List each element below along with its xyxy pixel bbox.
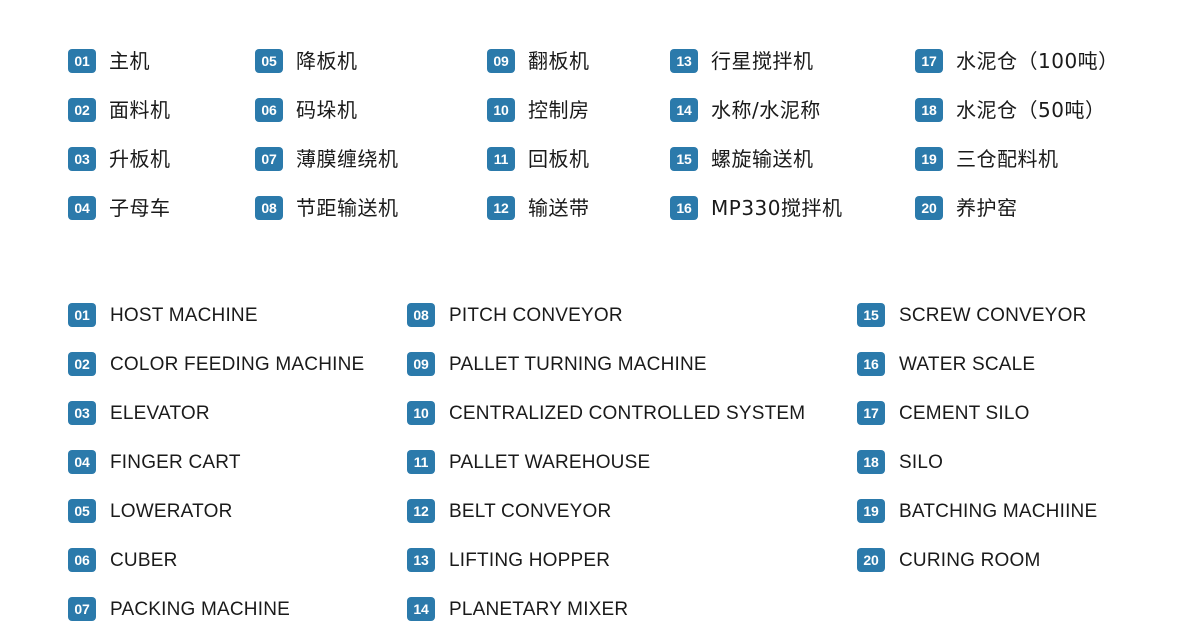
legend-number-badge: 02 [68,352,96,376]
legend-item-15: 15SCREW CONVEYOR [857,303,1087,327]
legend-number-badge: 11 [407,450,435,474]
legend-item-01: 01HOST MACHINE [68,303,258,327]
legend-item-label: 输送带 [528,198,590,218]
legend-number-badge: 07 [255,147,283,171]
legend-item-label: CENTRALIZED CONTROLLED SYSTEM [449,404,805,423]
legend-item-14: 14水称/水泥称 [670,98,821,122]
legend-item-label: 水称/水泥称 [711,100,821,120]
legend-number-badge: 06 [68,548,96,572]
legend-number-badge: 05 [68,499,96,523]
legend-number-badge: 04 [68,450,96,474]
legend-item-label: COLOR FEEDING MACHINE [110,355,364,374]
legend-number-badge: 09 [487,49,515,73]
legend-item-label: BATCHING MACHIINE [899,502,1097,521]
legend-number-badge: 17 [915,49,943,73]
legend-number-badge: 14 [670,98,698,122]
legend-item-18: 18水泥仓（50吨） [915,98,1105,122]
legend-number-badge: 19 [857,499,885,523]
legend-item-06: 06CUBER [68,548,178,572]
legend-item-13: 13行星搅拌机 [670,49,814,73]
legend-number-badge: 16 [857,352,885,376]
legend-number-badge: 03 [68,401,96,425]
legend-number-badge: 18 [915,98,943,122]
legend-item-label: 升板机 [109,149,171,169]
legend-item-label: PLANETARY MIXER [449,600,628,619]
legend-item-16: 16WATER SCALE [857,352,1035,376]
legend-number-badge: 07 [68,597,96,621]
legend-number-badge: 19 [915,147,943,171]
legend-item-03: 03ELEVATOR [68,401,210,425]
legend-number-badge: 10 [407,401,435,425]
legend-number-badge: 20 [857,548,885,572]
legend-item-19: 19三仓配料机 [915,147,1059,171]
legend-item-label: 码垛机 [296,100,358,120]
legend-item-label: 水泥仓（50吨） [956,100,1105,120]
legend-item-02: 02COLOR FEEDING MACHINE [68,352,364,376]
legend-item-18: 18SILO [857,450,943,474]
legend-number-badge: 14 [407,597,435,621]
legend-item-13: 13LIFTING HOPPER [407,548,610,572]
legend-item-19: 19BATCHING MACHIINE [857,499,1097,523]
legend-item-08: 08节距输送机 [255,196,399,220]
legend-item-17: 17水泥仓（100吨） [915,49,1119,73]
legend-number-badge: 12 [407,499,435,523]
legend-number-badge: 18 [857,450,885,474]
legend-number-badge: 12 [487,196,515,220]
legend-item-11: 11PALLET WAREHOUSE [407,450,650,474]
legend-item-label: WATER SCALE [899,355,1035,374]
legend-item-label: 节距输送机 [296,198,399,218]
legend-item-label: MP330搅拌机 [711,198,843,218]
legend-item-label: ELEVATOR [110,404,210,423]
legend-number-badge: 09 [407,352,435,376]
legend-item-label: LOWERATOR [110,502,233,521]
legend-item-12: 12输送带 [487,196,590,220]
legend-item-label: PALLET WAREHOUSE [449,453,650,472]
legend-item-label: LIFTING HOPPER [449,551,610,570]
legend-number-badge: 05 [255,49,283,73]
legend-number-badge: 01 [68,303,96,327]
legend-item-17: 17CEMENT SILO [857,401,1030,425]
legend-item-label: 面料机 [109,100,171,120]
legend-item-label: 螺旋输送机 [711,149,814,169]
legend-root: 01主机02面料机03升板机04子母车05降板机06码垛机07薄膜缠绕机08节距… [0,0,1200,640]
legend-item-label: 翻板机 [528,51,590,71]
legend-item-label: CUBER [110,551,178,570]
legend-item-09: 09PALLET TURNING MACHINE [407,352,707,376]
legend-item-14: 14PLANETARY MIXER [407,597,628,621]
legend-number-badge: 10 [487,98,515,122]
legend-item-08: 08PITCH CONVEYOR [407,303,623,327]
legend-item-04: 04子母车 [68,196,171,220]
legend-item-05: 05LOWERATOR [68,499,233,523]
legend-item-label: PITCH CONVEYOR [449,306,623,325]
legend-item-label: 子母车 [109,198,171,218]
legend-item-06: 06码垛机 [255,98,358,122]
legend-item-04: 04FINGER CART [68,450,241,474]
legend-number-badge: 08 [407,303,435,327]
legend-item-03: 03升板机 [68,147,171,171]
legend-item-label: SCREW CONVEYOR [899,306,1087,325]
legend-item-07: 07薄膜缠绕机 [255,147,399,171]
legend-number-badge: 13 [670,49,698,73]
legend-item-label: PACKING MACHINE [110,600,290,619]
legend-item-16: 16MP330搅拌机 [670,196,843,220]
legend-item-label: FINGER CART [110,453,241,472]
legend-item-label: CURING ROOM [899,551,1041,570]
legend-item-label: 薄膜缠绕机 [296,149,399,169]
legend-item-10: 10控制房 [487,98,590,122]
legend-number-badge: 17 [857,401,885,425]
legend-number-badge: 06 [255,98,283,122]
legend-item-02: 02面料机 [68,98,171,122]
legend-number-badge: 16 [670,196,698,220]
legend-item-05: 05降板机 [255,49,358,73]
legend-number-badge: 20 [915,196,943,220]
legend-item-label: PALLET TURNING MACHINE [449,355,707,374]
legend-item-15: 15螺旋输送机 [670,147,814,171]
legend-item-label: 控制房 [528,100,590,120]
legend-number-badge: 08 [255,196,283,220]
legend-number-badge: 15 [670,147,698,171]
legend-number-badge: 13 [407,548,435,572]
legend-item-label: 回板机 [528,149,590,169]
legend-item-10: 10CENTRALIZED CONTROLLED SYSTEM [407,401,805,425]
legend-item-label: 主机 [109,51,150,71]
legend-item-20: 20CURING ROOM [857,548,1041,572]
legend-number-badge: 01 [68,49,96,73]
legend-item-09: 09翻板机 [487,49,590,73]
legend-item-label: HOST MACHINE [110,306,258,325]
legend-item-label: 养护窑 [956,198,1018,218]
legend-item-01: 01主机 [68,49,150,73]
legend-item-label: 水泥仓（100吨） [956,51,1119,71]
legend-item-label: 行星搅拌机 [711,51,814,71]
legend-item-07: 07PACKING MACHINE [68,597,290,621]
legend-number-badge: 02 [68,98,96,122]
legend-item-12: 12BELT CONVEYOR [407,499,611,523]
legend-number-badge: 03 [68,147,96,171]
legend-item-label: BELT CONVEYOR [449,502,611,521]
legend-item-11: 11回板机 [487,147,590,171]
legend-item-label: CEMENT SILO [899,404,1030,423]
legend-number-badge: 04 [68,196,96,220]
legend-item-label: SILO [899,453,943,472]
legend-item-label: 降板机 [296,51,358,71]
legend-item-label: 三仓配料机 [956,149,1059,169]
legend-number-badge: 11 [487,147,515,171]
legend-number-badge: 15 [857,303,885,327]
legend-item-20: 20养护窑 [915,196,1018,220]
